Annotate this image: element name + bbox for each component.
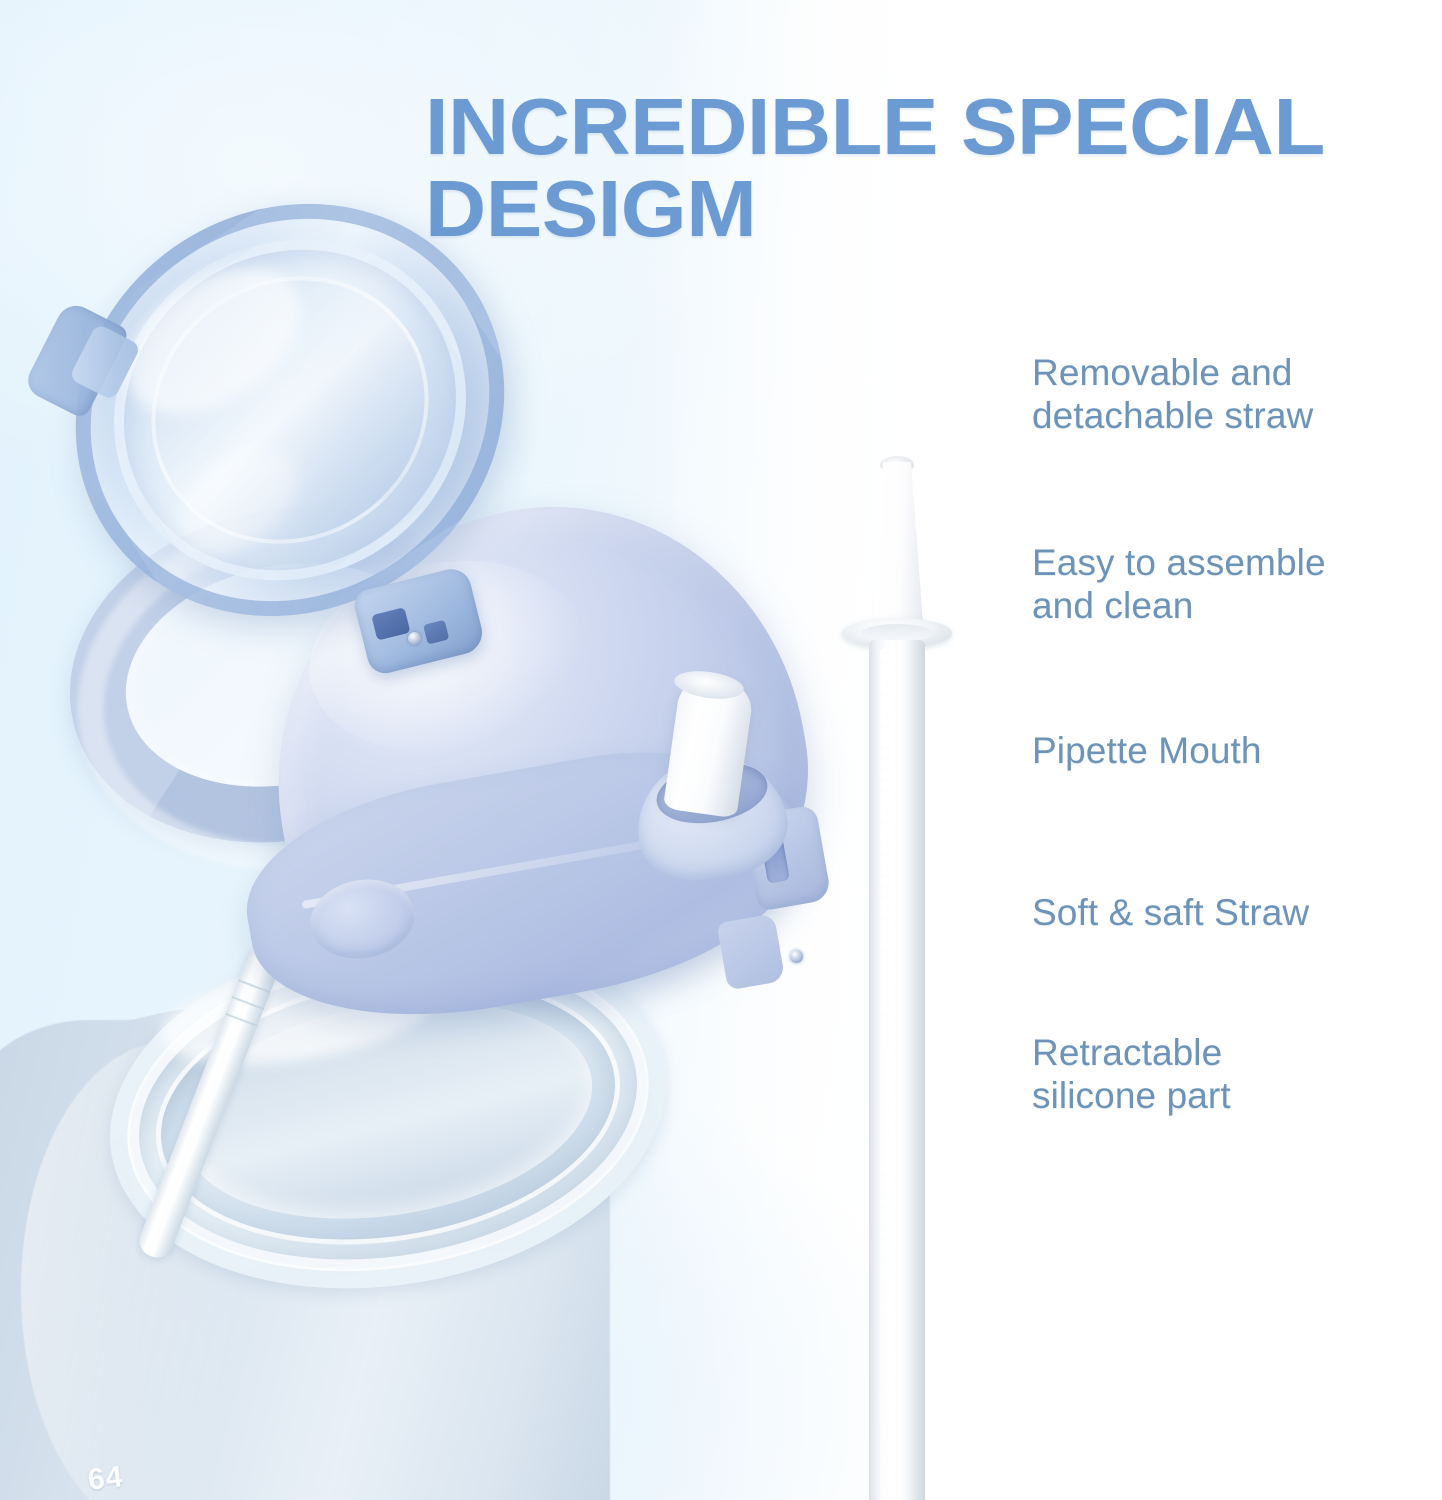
headline-line-1: INCREDIBLE SPECIAL: [425, 82, 1325, 171]
straw-mouthpiece: [862, 462, 932, 632]
feature-removable-detachable-straw: Removable and detachable straw: [1032, 352, 1313, 438]
feature-line: silicone part: [1032, 1075, 1231, 1118]
hinge-notch: [371, 607, 410, 640]
feature-line: and clean: [1032, 585, 1326, 628]
feature-line: Soft & saft Straw: [1032, 892, 1309, 935]
product-infographic: INCREDIBLE SPECIAL DESIGM 64: [0, 0, 1442, 1500]
cap-assembly: [60, 180, 850, 1020]
feature-line: Pipette Mouth: [1032, 730, 1262, 773]
feature-retractable-silicone-part: Retractable silicone part: [1032, 1032, 1231, 1118]
feature-soft-saft-straw: Soft & saft Straw: [1032, 892, 1309, 935]
feature-easy-to-assemble-and-clean: Easy to assemble and clean: [1032, 542, 1326, 628]
straw-highlight: [880, 648, 889, 1500]
feature-pipette-mouth: Pipette Mouth: [1032, 730, 1262, 773]
detachable-straw: [836, 462, 956, 1500]
bottle-volume-marking: 64: [86, 1460, 125, 1498]
feature-line: Retractable: [1032, 1032, 1231, 1075]
feature-line: Removable and: [1032, 352, 1313, 395]
latch-pin: [790, 950, 803, 963]
cap-latch-secondary: [717, 913, 786, 990]
straw-tube: [869, 640, 925, 1500]
feature-line: detachable straw: [1032, 395, 1313, 438]
feature-line: Easy to assemble: [1032, 542, 1326, 585]
hinge-notch-secondary: [423, 620, 449, 645]
hinge-pin: [408, 632, 421, 645]
